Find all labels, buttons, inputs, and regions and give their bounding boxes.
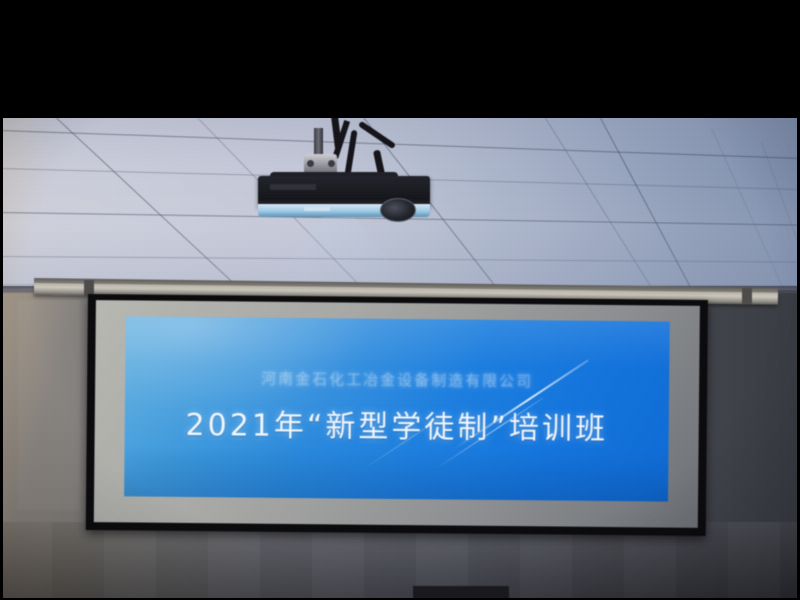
wall-smudge <box>18 300 80 510</box>
projector <box>252 128 442 223</box>
letterbox-bar-left <box>0 0 3 600</box>
slide-title: 2021年“新型学徒制”培训班 <box>125 399 669 448</box>
ceiling-runner <box>711 128 785 293</box>
screen-fabric: 河南金石化工冶金设备制造有限公司 2021年“新型学徒制”培训班 <box>94 300 700 528</box>
projection-screen[interactable]: 河南金石化工冶金设备制造有限公司 2021年“新型学徒制”培训班 <box>86 294 708 536</box>
projector-brand-label <box>304 207 330 211</box>
ceiling-seam <box>0 256 800 263</box>
projector-mount-bolt <box>307 160 314 167</box>
projector-cable <box>344 130 357 176</box>
ceiling-runner <box>535 112 679 294</box>
projector-mount-bolt <box>328 160 335 167</box>
projector-lens-icon <box>380 198 416 222</box>
projected-slide: 河南金石化工冶金设备制造有限公司 2021年“新型学徒制”培训班 <box>124 316 670 501</box>
screen-roller-bracket-right <box>742 288 752 304</box>
letterbox-bar-top <box>0 0 800 118</box>
projector-vent <box>270 184 316 190</box>
slide-company-line: 河南金石化工冶金设备制造有限公司 <box>125 366 669 392</box>
photo-canvas: 河南金石化工冶金设备制造有限公司 2021年“新型学徒制”培训班 <box>0 0 800 600</box>
ceiling-runner <box>599 116 713 294</box>
